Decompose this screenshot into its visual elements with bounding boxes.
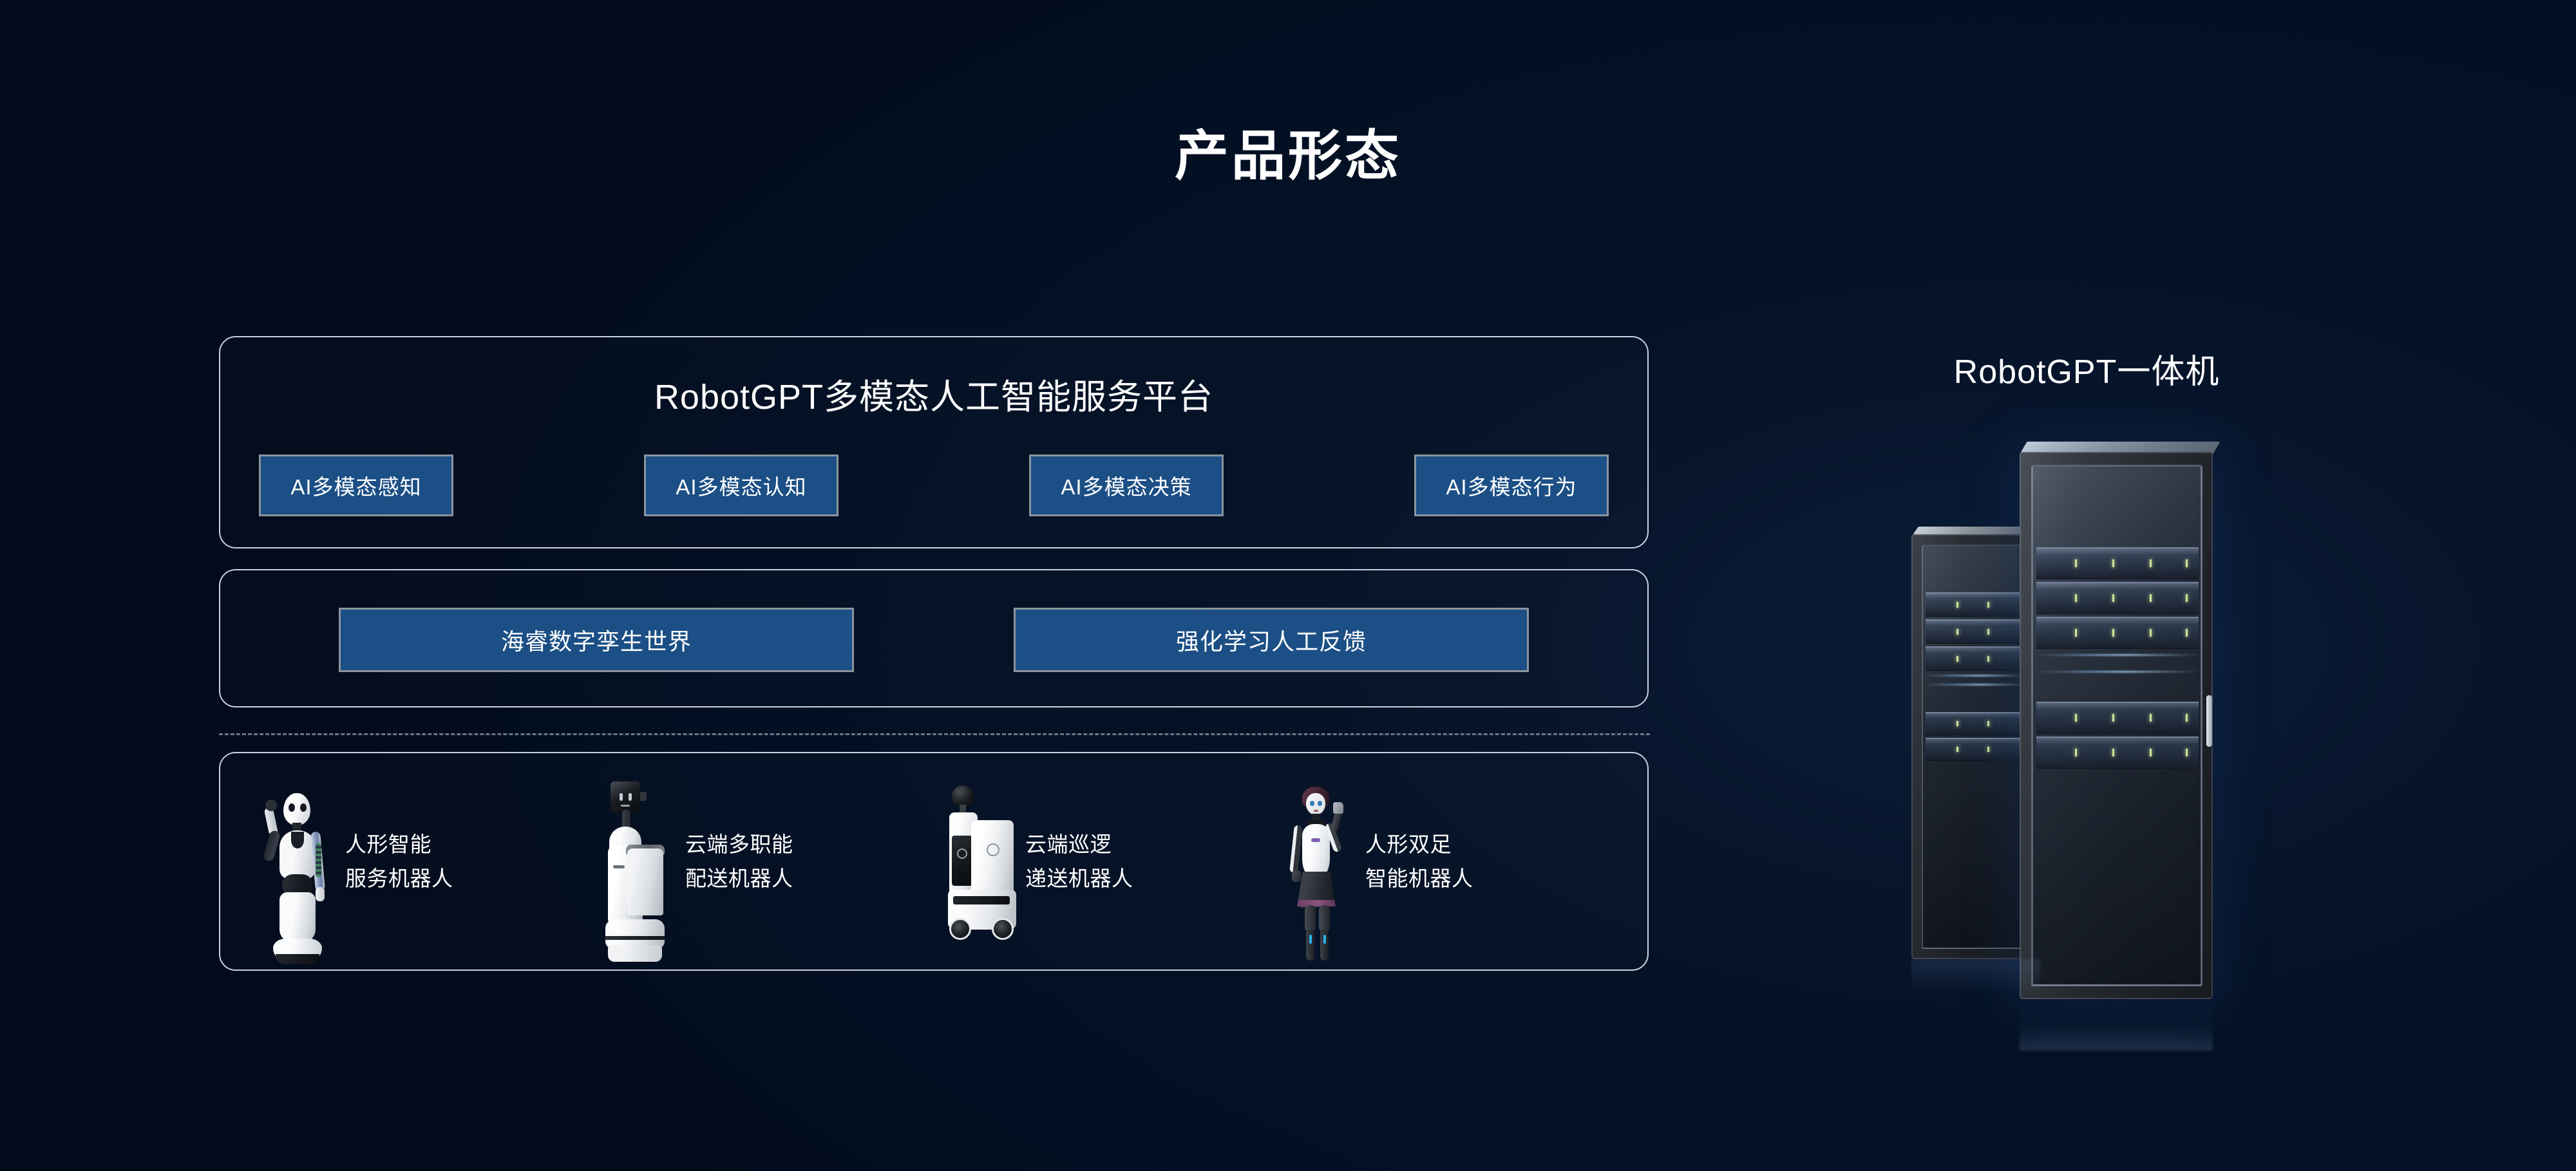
appliance-title: RobotGPT一体机	[1797, 344, 2376, 393]
cabinet-door-handle[interactable]	[2206, 695, 2212, 747]
list-item[interactable]: 云端巡逻 递送机器人	[934, 752, 1274, 971]
section-divider	[219, 733, 1650, 735]
robot-list: 人形智能 服务机器人 云端多职能 配送机器人 云端巡逻 递	[219, 752, 1649, 971]
capability-tile-perception[interactable]: AI多模态感知	[259, 454, 453, 516]
cloud-delivery-robot-icon	[594, 776, 676, 963]
page-title: 产品形态	[0, 113, 2576, 191]
engine-card: 海睿数字孪生世界 强化学习人工反馈	[219, 569, 1649, 707]
capability-tile-decision[interactable]: AI多模态决策	[1029, 454, 1224, 516]
humanoid-service-robot-icon	[254, 776, 336, 963]
server-rack-cabinets-icon	[1893, 418, 2267, 1036]
capability-tile-row: AI多模态感知 AI多模态认知 AI多模态决策 AI多模态行为	[259, 454, 1609, 516]
list-item-label: 云端巡逻 递送机器人	[1025, 827, 1133, 896]
list-item-label: 人形双足 智能机器人	[1365, 827, 1473, 896]
platform-card-title: RobotGPT多模态人工智能服务平台	[220, 368, 1647, 419]
engine-tile-digital-twin[interactable]: 海睿数字孪生世界	[339, 608, 854, 672]
patrol-delivery-cart-icon	[934, 776, 1016, 963]
list-item[interactable]: 人形智能 服务机器人	[254, 752, 594, 971]
list-item[interactable]: 云端多职能 配送机器人	[594, 752, 934, 971]
list-item-label: 人形智能 服务机器人	[345, 827, 453, 896]
slide-canvas: 产品形态 RobotGPT多模态人工智能服务平台 AI多模态感知 AI多模态认知…	[0, 0, 2576, 1171]
platform-card: RobotGPT多模态人工智能服务平台 AI多模态感知 AI多模态认知 AI多模…	[219, 336, 1649, 548]
engine-tile-rlhf[interactable]: 强化学习人工反馈	[1014, 608, 1529, 672]
bipedal-humanoid-robot-icon	[1274, 776, 1356, 963]
capability-tile-behavior[interactable]: AI多模态行为	[1414, 454, 1609, 516]
engine-tile-row: 海睿数字孪生世界 强化学习人工反馈	[259, 608, 1609, 672]
list-item-label: 云端多职能 配送机器人	[685, 827, 793, 896]
list-item[interactable]: 人形双足 智能机器人	[1274, 752, 1614, 971]
capability-tile-cognition[interactable]: AI多模态认知	[644, 454, 838, 516]
